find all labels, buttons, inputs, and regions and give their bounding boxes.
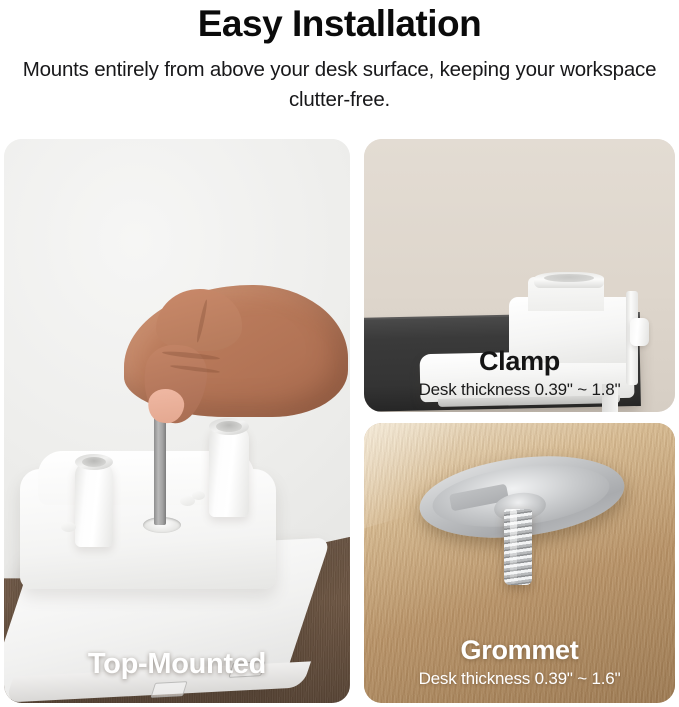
page-title: Easy Installation [0,2,679,46]
grommet-threaded-bolt [504,509,532,585]
page-subtitle: Mounts entirely from above your desk sur… [0,55,679,115]
mount-body-bump [61,522,76,532]
header-section: Easy Installation Mounts entirely from a… [0,0,679,134]
clamp-caption: Clamp Desk thickness 0.39" ~ 1.8" [364,345,675,402]
mount-post-right-bore [216,421,242,432]
clamp-adjust-knob [630,318,649,346]
panel-clamp: Clamp Desk thickness 0.39" ~ 1.8" [364,139,675,412]
mount-body-bump [192,491,205,500]
mount-post-right [209,425,249,517]
panel-top-mounted: Top-Mounted [4,139,350,703]
top-mounted-caption: Top-Mounted [4,647,350,681]
grommet-bolt-highlight [510,509,517,583]
top-mounted-caption-title: Top-Mounted [4,647,350,681]
clamp-collar-bore [544,274,594,282]
grommet-caption-subtitle: Desk thickness 0.39" ~ 1.6" [364,667,675,691]
grommet-caption-title: Grommet [364,634,675,666]
mount-base-slot [150,681,187,698]
clamp-caption-subtitle: Desk thickness 0.39" ~ 1.8" [364,378,675,402]
mount-post-left-bore [82,457,106,467]
clamp-caption-title: Clamp [364,345,675,377]
grommet-caption: Grommet Desk thickness 0.39" ~ 1.6" [364,634,675,691]
mount-post-left [75,461,113,547]
panel-grommet: Grommet Desk thickness 0.39" ~ 1.6" [364,423,675,703]
